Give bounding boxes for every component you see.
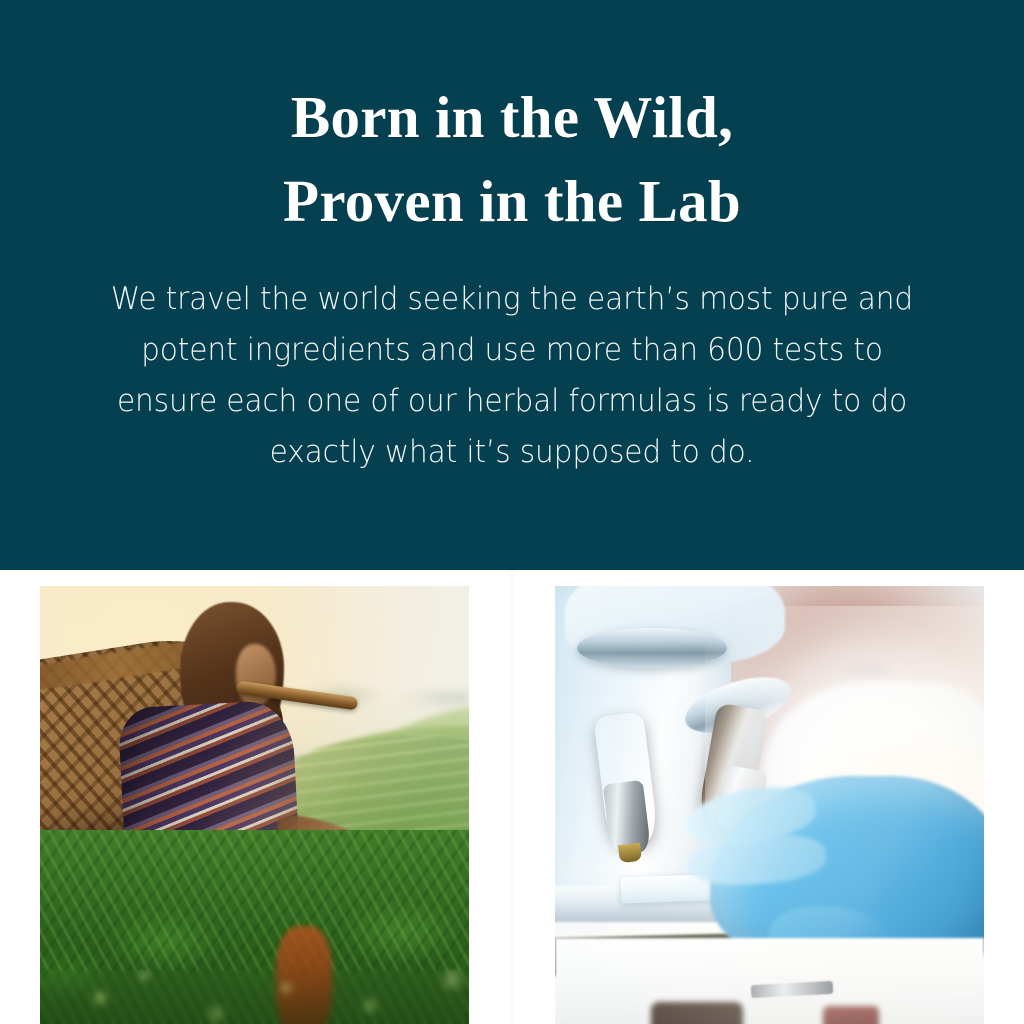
lab-color-wash bbox=[555, 586, 984, 1024]
foreground-blur bbox=[40, 970, 469, 1024]
photo-strip bbox=[0, 570, 1024, 1024]
tea-harvester-photo bbox=[40, 586, 469, 1024]
headline-line-1: Born in the Wild, bbox=[64, 76, 960, 160]
body-copy: We travel the world seeking the earth’s … bbox=[91, 244, 933, 478]
lab-microscope-photo bbox=[555, 586, 984, 1024]
headline-line-2: Proven in the Lab bbox=[64, 160, 960, 244]
body-copy-line-1: We travel the world seeking the earth’s … bbox=[91, 274, 933, 325]
body-copy-line-2: potent ingredients and use more than 600… bbox=[91, 325, 933, 376]
body-copy-line-3: ensure each one of our herbal formulas i… bbox=[91, 376, 933, 427]
text-panel: Born in the Wild, Proven in the Lab We t… bbox=[0, 0, 1024, 570]
body-copy-line-4: exactly what it’s supposed to do. bbox=[91, 427, 933, 478]
photo-divider bbox=[509, 570, 514, 1024]
promo-graphic: Born in the Wild, Proven in the Lab We t… bbox=[0, 0, 1024, 1024]
page-title: Born in the Wild, Proven in the Lab bbox=[64, 0, 960, 244]
